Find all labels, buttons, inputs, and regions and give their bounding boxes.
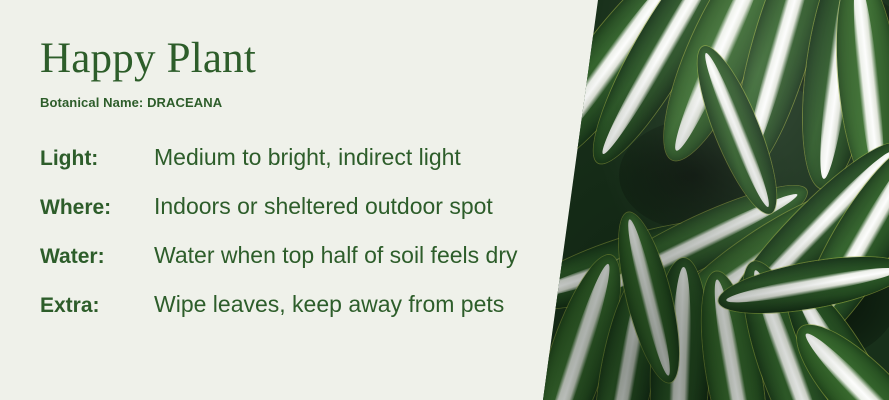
care-row-light: Light:Medium to bright, indirect light [40,144,518,193]
care-label: Extra: [40,294,154,318]
care-value: Wipe leaves, keep away from pets [154,291,504,318]
care-value: Indoors or sheltered outdoor spot [154,193,493,220]
botanical-name: Botanical Name: DRACEANA [40,95,222,110]
text-panel: Happy Plant Botanical Name: DRACEANA Lig… [0,0,539,400]
care-label: Where: [40,196,154,220]
care-row-where: Where:Indoors or sheltered outdoor spot [40,193,518,242]
dracaena-photo [539,0,889,400]
page-title: Happy Plant [40,36,256,81]
care-label: Water: [40,245,154,269]
care-value: Medium to bright, indirect light [154,144,461,171]
plant-care-card: Happy Plant Botanical Name: DRACEANA Lig… [0,0,889,400]
care-value: Water when top half of soil feels dry [154,242,518,269]
leaf-illustration [539,0,889,400]
care-label: Light: [40,147,154,171]
care-row-water: Water:Water when top half of soil feels … [40,242,518,291]
care-list: Light:Medium to bright, indirect light W… [40,144,518,340]
care-row-extra: Extra:Wipe leaves, keep away from pets [40,291,518,340]
